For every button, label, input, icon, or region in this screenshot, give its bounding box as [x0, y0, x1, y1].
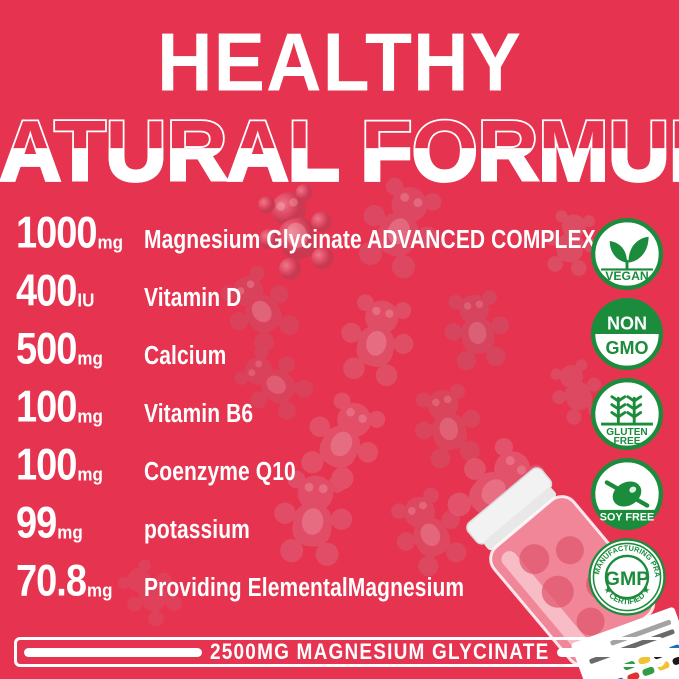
badge-vegan: VEGAN: [591, 218, 663, 290]
headline-primary: HEALTHY: [0, 22, 679, 102]
badge-non-gmo: NON GMO: [591, 298, 663, 370]
ingredient-value: 400: [16, 269, 76, 314]
bottom-banner: 2500MG MAGNESIUM GLYCINATE: [14, 637, 665, 667]
headline-secondary: NATURAL FORMULA NATURAL FORMULA: [0, 109, 679, 187]
product-poster: HEALTHY NATURAL FORMULA NATURAL FORMULA …: [0, 0, 679, 679]
banner-rule-right: [557, 648, 679, 657]
ingredient-amount: 400 IU: [16, 276, 144, 314]
ingredient-row: 500 mg Calcium: [16, 334, 596, 392]
badge-soy-free-label: SOY FREE: [600, 512, 654, 524]
ingredient-name: Vitamin D: [144, 285, 241, 311]
ingredient-unit: mg: [77, 349, 103, 368]
ingredient-row: 100 mg Vitamin B6: [16, 392, 596, 450]
certification-badges: VEGAN NON GMO: [584, 218, 670, 624]
badge-vegan-label: VEGAN: [605, 269, 649, 283]
ingredient-value: 70.8: [16, 559, 86, 604]
ingredient-name: Magnesium Glycinate ADVANCED COMPLEX: [144, 227, 596, 253]
ingredient-name: Calcium: [144, 343, 226, 369]
ingredient-row: 99 mg potassium: [16, 508, 596, 566]
ingredient-value: 100: [16, 385, 76, 430]
ingredient-row: 70.8 mg Providing ElementalMagnesium: [16, 566, 596, 624]
ingredient-unit: mg: [77, 407, 103, 426]
ingredient-amount: 100 mg: [16, 392, 144, 430]
ingredient-unit: mg: [77, 465, 103, 484]
headline-block: HEALTHY NATURAL FORMULA NATURAL FORMULA: [0, 22, 679, 187]
ingredient-value: 1000: [16, 211, 97, 256]
ingredient-name: potassium: [144, 517, 250, 543]
ingredient-row: 1000 mg Magnesium Glycinate ADVANCED COM…: [16, 218, 596, 276]
badge-soy-free: SOY FREE: [591, 458, 663, 530]
ingredient-unit: mg: [87, 581, 113, 600]
ingredient-name: Vitamin B6: [144, 401, 253, 427]
badge-non-gmo-line1: NON: [607, 314, 647, 334]
ingredient-name: Coenzyme Q10: [144, 459, 296, 485]
ingredient-value: 100: [16, 443, 76, 488]
gmp-center-label: GMP: [605, 568, 649, 590]
ingredient-value: 99: [16, 501, 56, 546]
ingredient-unit: mg: [57, 523, 83, 542]
ingredient-unit: mg: [98, 233, 124, 252]
badge-gluten-free-line2: FREE: [614, 436, 641, 447]
badge-non-gmo-line2: GMO: [606, 338, 649, 358]
ingredient-amount: 500 mg: [16, 334, 144, 372]
ingredient-list: 1000 mg Magnesium Glycinate ADVANCED COM…: [16, 218, 596, 624]
ingredient-value: 500: [16, 327, 76, 372]
ingredient-row: 100 mg Coenzyme Q10: [16, 450, 596, 508]
ingredient-unit: IU: [77, 291, 94, 310]
badge-gluten-free: GLUTEN FREE: [591, 378, 663, 450]
ingredient-amount: 99 mg: [16, 508, 144, 546]
badge-gmp: GOOD MANUFACTURING PRACTICE GMP ★ CERTIF…: [588, 538, 666, 616]
ingredient-amount: 70.8 mg: [16, 566, 144, 604]
ingredient-row: 400 IU Vitamin D: [16, 276, 596, 334]
ingredient-name: Providing ElementalMagnesium: [144, 575, 464, 601]
banner-text: 2500MG MAGNESIUM GLYCINATE: [202, 641, 557, 663]
banner-rule-left: [24, 648, 202, 657]
ingredient-amount: 100 mg: [16, 450, 144, 488]
ingredient-amount: 1000 mg: [16, 218, 144, 256]
